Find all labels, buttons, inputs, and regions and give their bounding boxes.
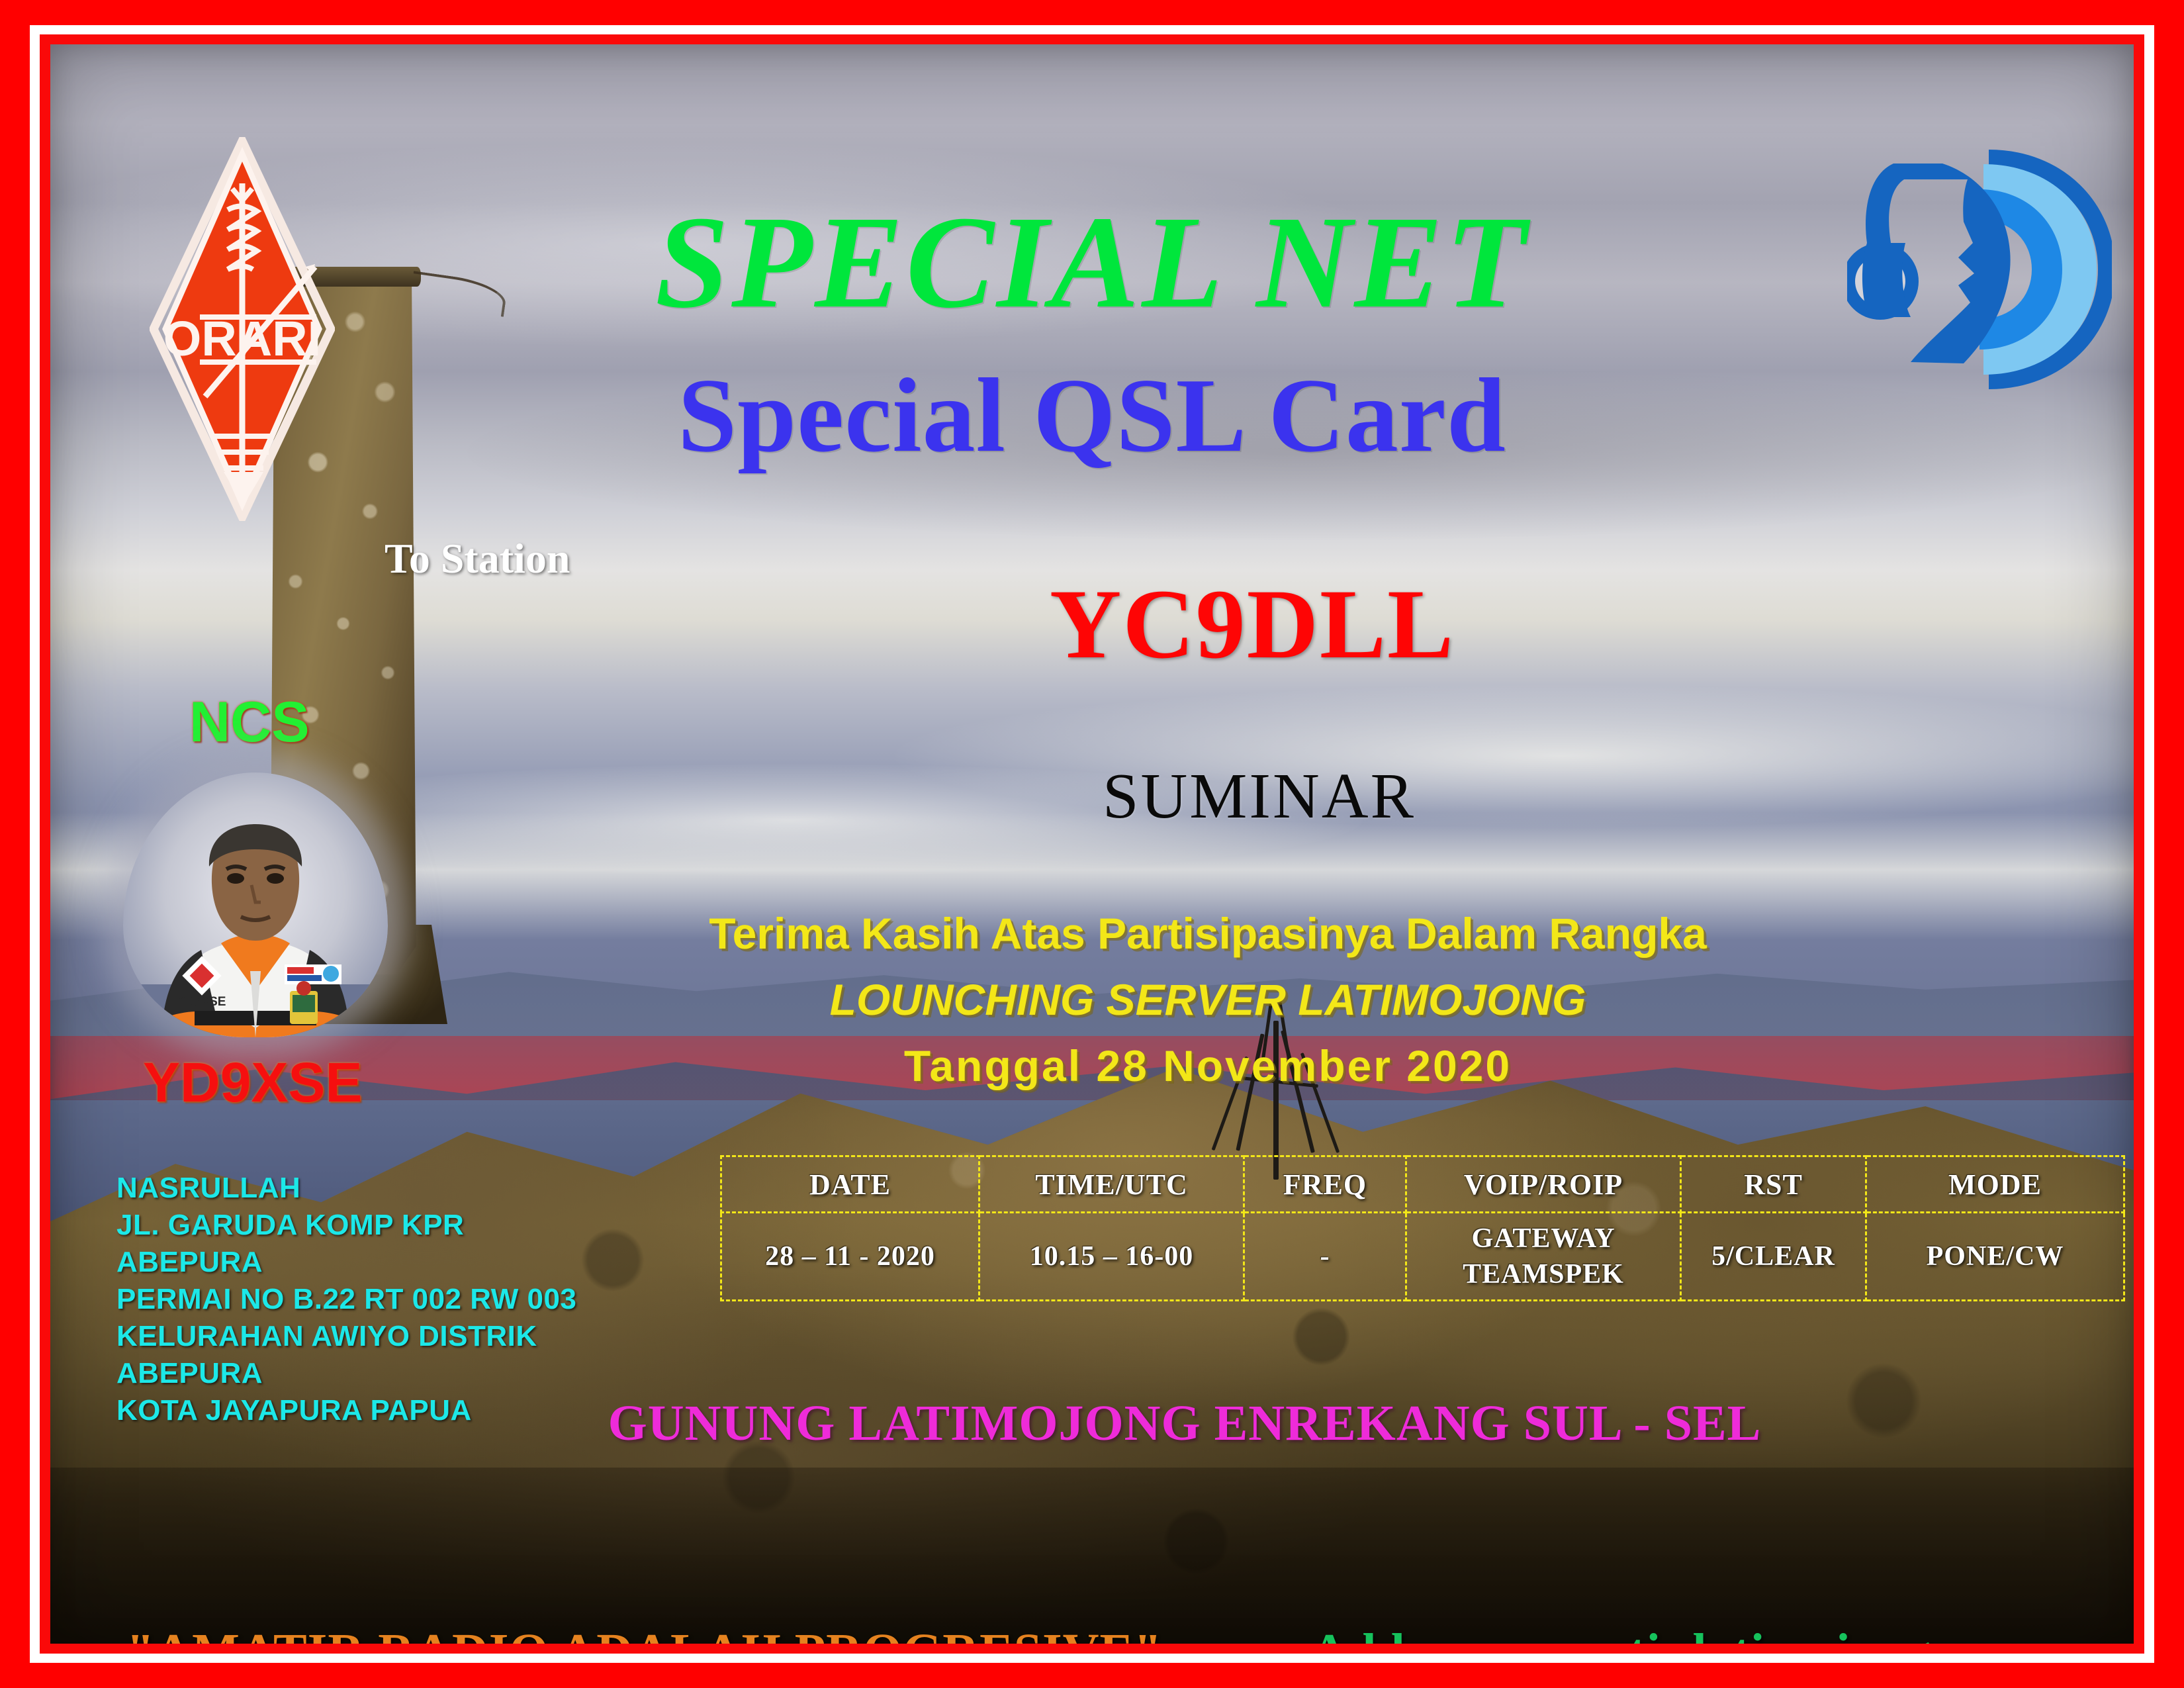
ncs-label: NCS <box>189 690 310 755</box>
address-line: JL. GARUDA KOMP KPR <box>116 1207 576 1244</box>
card-photo-area: ORARI <box>50 44 2134 1644</box>
operator-name: SUMINAR <box>1103 759 1416 833</box>
page-subtitle: Special QSL Card <box>50 362 2134 468</box>
cell-freq: - <box>1244 1213 1406 1301</box>
qso-log-table: DATE TIME/UTC FREQ VOIP/ROIP RST MODE 28… <box>720 1155 2125 1301</box>
table-header-row: DATE TIME/UTC FREQ VOIP/ROIP RST MODE <box>721 1156 2124 1213</box>
cell-voip-roip: GATEWAY TEAMSPEK <box>1406 1213 1681 1301</box>
cell-rst: 5/CLEAR <box>1681 1213 1866 1301</box>
header-rst: RST <box>1681 1156 1866 1213</box>
header-date: DATE <box>721 1156 979 1213</box>
station-callsign: YC9DLL <box>1050 567 1455 681</box>
to-station-label: To Station <box>385 534 570 583</box>
event-name-line: LOUNCHING SERVER LATIMOJONG <box>50 974 2134 1025</box>
cell-date: 28 – 11 - 2020 <box>721 1213 979 1301</box>
website-address: Address : amatir.latimojong.com <box>1311 1623 2036 1644</box>
motto-text: "AMATIR RADIO ADALAH PROGRESIVE" <box>126 1623 1162 1644</box>
mailing-address: NASRULLAH JL. GARUDA KOMP KPR ABEPURA PE… <box>116 1170 576 1429</box>
address-line: ABEPURA <box>116 1355 576 1392</box>
header-mode: MODE <box>1866 1156 2124 1213</box>
address-line: ABEPURA <box>116 1244 576 1281</box>
event-date-line: Tanggal 28 November 2020 <box>50 1041 2134 1091</box>
address-line: KELURAHAN AWIYO DISTRIK <box>116 1318 576 1355</box>
header-freq: FREQ <box>1244 1156 1406 1213</box>
cell-mode: PONE/CW <box>1866 1213 2124 1301</box>
location-line: GUNUNG LATIMOJONG ENREKANG SUL - SEL <box>50 1395 2134 1452</box>
address-line: PERMAI NO B.22 RT 002 RW 003 <box>116 1281 576 1318</box>
header-voip-roip: VOIP/ROIP <box>1406 1156 1681 1213</box>
table-row: 28 – 11 - 2020 10.15 – 16-00 - GATEWAY T… <box>721 1213 2124 1301</box>
cell-voip-roip-line1: GATEWAY <box>1408 1221 1679 1256</box>
address-line: NASRULLAH <box>116 1170 576 1207</box>
card-inner-red-frame: ORARI <box>40 34 2144 1654</box>
thank-you-line-1: Terima Kasih Atas Partisipasinya Dalam R… <box>50 908 2134 959</box>
cell-time: 10.15 – 16-00 <box>979 1213 1244 1301</box>
header-time: TIME/UTC <box>979 1156 1244 1213</box>
qsl-card: ORARI <box>0 0 2184 1688</box>
card-white-frame: ORARI <box>30 25 2154 1663</box>
cell-voip-roip-line2: TEAMSPEK <box>1408 1256 1679 1292</box>
page-title: SPECIAL NET <box>50 197 2134 329</box>
